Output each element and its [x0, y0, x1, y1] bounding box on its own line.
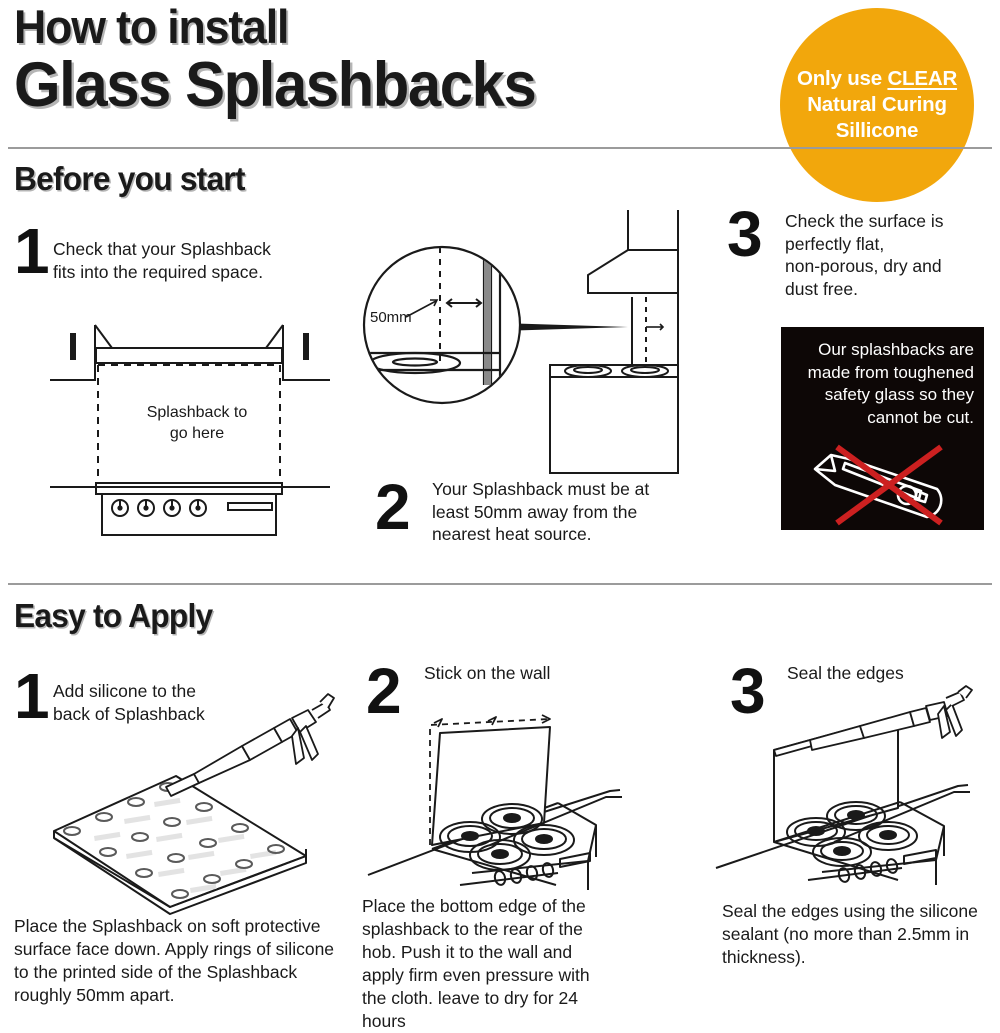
badge-line3: Sillicone	[836, 119, 919, 142]
step-body-2-3: Seal the edges using the silicone sealan…	[722, 900, 982, 969]
step-number-1-2: 2	[375, 478, 409, 536]
warning-box-text: Our splashbacks are made from toughened …	[791, 339, 974, 429]
step-caption-1-3: Check the surface is perfectly flat, non…	[785, 210, 995, 300]
badge-line1-underlined: CLEAR	[887, 67, 957, 90]
clear-silicone-badge: Only use CLEAR Natural Curing Sillicone	[780, 8, 974, 202]
divider-middle	[8, 583, 992, 585]
badge-line1-pre: Only use	[797, 67, 887, 90]
step-caption-1-2: Your Splashback must be at least 50mm aw…	[432, 478, 697, 546]
title-line-2: Glass Splashbacks	[14, 52, 535, 118]
badge-line2: Natural Curing	[807, 93, 947, 116]
step-body-2-1: Place the Splashback on soft protective …	[14, 915, 344, 1007]
diagram-seal-edges	[712, 680, 1000, 890]
diagram-stick-on-wall	[360, 685, 690, 885]
step-body-2-2: Place the bottom edge of the splashback …	[362, 895, 612, 1033]
diagram-label-splashback-area: Splashback to go here	[122, 402, 272, 444]
crossed-out-utility-knife-icon	[809, 445, 959, 525]
step-caption-2-2: Stick on the wall	[424, 662, 674, 685]
title-line-1: How to install	[14, 2, 535, 52]
step-number-1-1: 1	[14, 222, 48, 280]
divider-top	[8, 147, 992, 149]
diagram-label-50mm: 50mm	[370, 309, 412, 326]
step-caption-1-1: Check that your Splashback fits into the…	[53, 238, 323, 283]
diagram-50mm-clearance: 50mm	[360, 205, 690, 480]
section-heading-easy-to-apply: Easy to Apply	[14, 597, 212, 635]
page-title: How to install Glass Splashbacks	[14, 2, 563, 118]
diagram-apply-silicone	[28, 688, 338, 908]
section-heading-before-you-start: Before you start	[14, 160, 245, 198]
step-number-1-3: 3	[727, 205, 761, 263]
instruction-sheet: How to install Glass Splashbacks Only us…	[0, 0, 1000, 1000]
badge-text: Only use CLEAR Natural Curing Sillicone	[789, 66, 965, 144]
warning-box-cannot-be-cut: Our splashbacks are made from toughened …	[781, 327, 984, 530]
